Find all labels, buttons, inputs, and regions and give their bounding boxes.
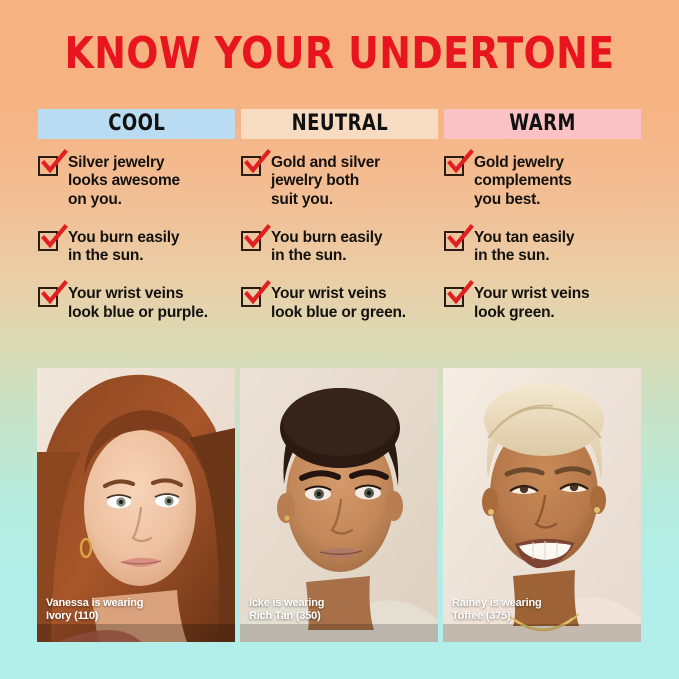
undertone-columns: COOL Silver jewelry looks awesome on you… xyxy=(38,109,641,322)
checklist-item: You burn easily in the sun. xyxy=(241,229,438,266)
checklist-item: Gold and silver jewelry both suit you. xyxy=(241,154,438,209)
checklist-item-label: Your wrist veins look green. xyxy=(474,285,589,322)
undertone-infographic: KNOW YOUR UNDERTONE COOL Silver jewelry … xyxy=(0,0,679,679)
column-warm: WARM Gold jewelry complements you best. xyxy=(444,109,641,322)
checkbox-checked-icon[interactable] xyxy=(38,156,58,176)
checkbox-checked-icon[interactable] xyxy=(241,231,261,251)
checklist-item: You burn easily in the sun. xyxy=(38,229,235,266)
checklist-item: Your wrist veins look green. xyxy=(444,285,641,322)
column-header-label-neutral: NEUTRAL xyxy=(291,113,388,135)
checklist-item-label: You burn easily in the sun. xyxy=(68,229,179,266)
column-neutral: NEUTRAL Gold and silver jewelry both sui… xyxy=(241,109,438,322)
check-mark-icon xyxy=(447,281,473,307)
check-mark-icon xyxy=(447,150,473,176)
page-title: KNOW YOUR UNDERTONE xyxy=(48,32,632,76)
column-header-label-cool: COOL xyxy=(108,113,165,135)
check-mark-icon xyxy=(244,225,270,251)
checklist-item-label: You burn easily in the sun. xyxy=(271,229,382,266)
checklist-item-label: Silver jewelry looks awesome on you. xyxy=(68,154,180,209)
checklist-item: Your wrist veins look blue or green. xyxy=(241,285,438,322)
checkbox-checked-icon[interactable] xyxy=(38,231,58,251)
column-header-neutral: NEUTRAL xyxy=(241,109,438,139)
check-mark-icon xyxy=(41,281,67,307)
checkbox-checked-icon[interactable] xyxy=(241,156,261,176)
checklist-cool: Silver jewelry looks awesome on you. You… xyxy=(38,154,235,322)
checklist-item: You tan easily in the sun. xyxy=(444,229,641,266)
column-header-label-warm: WARM xyxy=(509,113,576,135)
column-header-warm: WARM xyxy=(444,109,641,139)
checkbox-checked-icon[interactable] xyxy=(444,287,464,307)
checklist-item: Your wrist veins look blue or purple. xyxy=(38,285,235,322)
checklist-neutral: Gold and silver jewelry both suit you. Y… xyxy=(241,154,438,322)
checklist-warm: Gold jewelry complements you best. You t… xyxy=(444,154,641,322)
checklist-item: Silver jewelry looks awesome on you. xyxy=(38,154,235,209)
checklist-item-label: Your wrist veins look blue or purple. xyxy=(68,285,208,322)
model-photo-icke: Icke is wearing Rich Tan (350) xyxy=(240,368,438,642)
photo-caption: Vanessa is wearing Ivory (110) xyxy=(46,597,143,625)
check-mark-icon xyxy=(41,225,67,251)
model-photo-vanessa: Vanessa is wearing Ivory (110) xyxy=(37,368,235,642)
column-cool: COOL Silver jewelry looks awesome on you… xyxy=(38,109,235,322)
checklist-item-label: Gold and silver jewelry both suit you. xyxy=(271,154,380,209)
checkbox-checked-icon[interactable] xyxy=(38,287,58,307)
photo-caption: Rainey is wearing Toffee (375) xyxy=(452,597,542,625)
checkbox-checked-icon[interactable] xyxy=(444,156,464,176)
photo-caption: Icke is wearing Rich Tan (350) xyxy=(249,597,324,625)
checklist-item-label: Your wrist veins look blue or green. xyxy=(271,285,406,322)
checklist-item-label: Gold jewelry complements you best. xyxy=(474,154,572,209)
check-mark-icon xyxy=(41,150,67,176)
column-header-cool: COOL xyxy=(38,109,235,139)
checkbox-checked-icon[interactable] xyxy=(241,287,261,307)
model-photo-row: Vanessa is wearing Ivory (110) xyxy=(37,368,642,642)
check-mark-icon xyxy=(447,225,473,251)
checkbox-checked-icon[interactable] xyxy=(444,231,464,251)
checklist-item: Gold jewelry complements you best. xyxy=(444,154,641,209)
model-photo-rainey: Rainey is wearing Toffee (375) xyxy=(443,368,641,642)
check-mark-icon xyxy=(244,150,270,176)
check-mark-icon xyxy=(244,281,270,307)
checklist-item-label: You tan easily in the sun. xyxy=(474,229,574,266)
